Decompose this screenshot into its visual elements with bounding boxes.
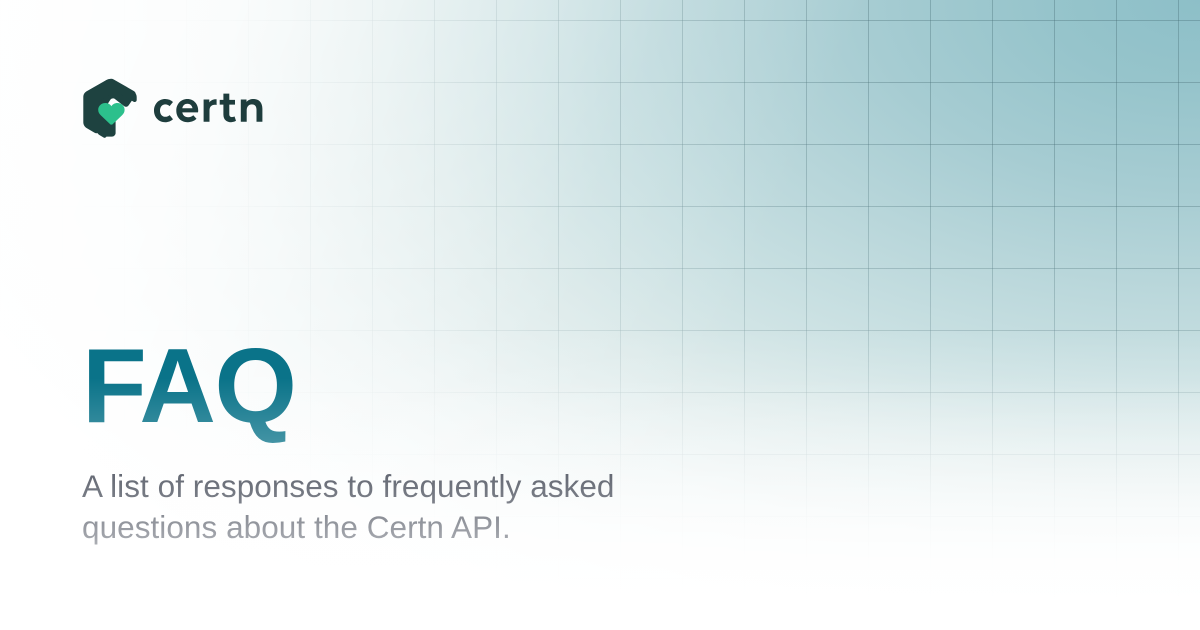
- page-title: FAQ: [82, 336, 862, 436]
- certn-hexagon-heart-icon: [80, 78, 140, 140]
- page-subtitle-line-2: questions about the Certn API.: [82, 509, 511, 545]
- hero-text-block: FAQ A list of responses to frequently as…: [82, 336, 862, 548]
- certn-wordmark: [140, 87, 306, 131]
- og-card: FAQ A list of responses to frequently as…: [0, 0, 1200, 630]
- page-subtitle: A list of responses to frequently asked …: [82, 436, 742, 548]
- certn-logo[interactable]: [80, 78, 306, 140]
- page-subtitle-line-1: A list of responses to frequently asked: [82, 468, 615, 504]
